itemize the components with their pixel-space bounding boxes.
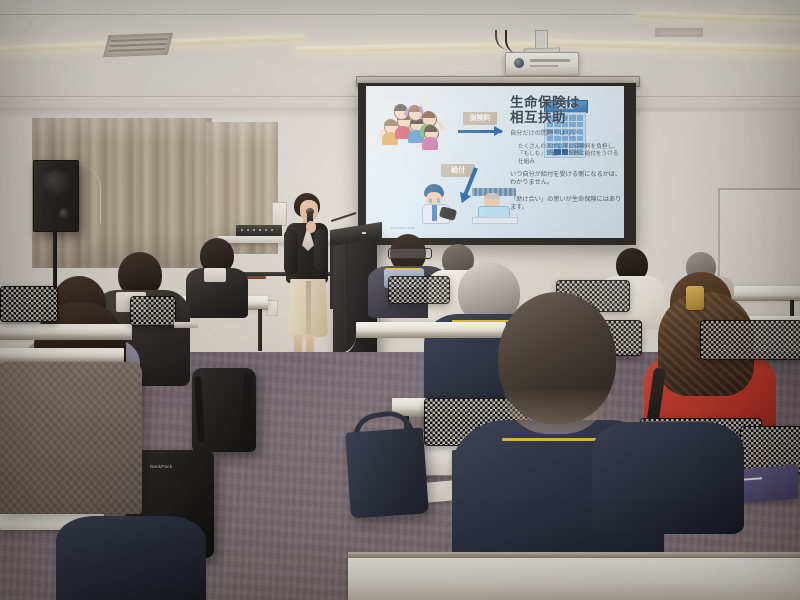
slide-paragraph-1: いつ自分が給付を受ける側になるかは、わかりません。 <box>510 171 622 188</box>
navy-tote-bag[interactable] <box>345 427 429 518</box>
presenter-arm-right <box>314 229 328 271</box>
draped-coat <box>0 362 142 514</box>
slide-tag-premium: 保険料 <box>463 112 497 125</box>
chair[interactable] <box>0 286 58 322</box>
projector-marking <box>530 65 558 67</box>
pa-speaker <box>33 160 79 232</box>
audience-member <box>592 412 742 532</box>
lectern-indicator-light <box>362 232 366 234</box>
audience-member <box>186 238 246 308</box>
table-leg <box>258 309 262 351</box>
audience-member <box>56 498 204 600</box>
hair-clip <box>686 286 704 310</box>
presenter-arm-left <box>284 229 298 275</box>
table-edge <box>348 552 800 558</box>
slide-title: 生命保険は 相互扶助 <box>510 96 622 125</box>
ceiling-vent <box>103 33 173 57</box>
projection-screen-frame: 保険料 保険 給付 <box>358 83 636 245</box>
slide-content: 保険料 保険 給付 <box>366 86 624 238</box>
table <box>348 556 800 600</box>
eyeglasses-icon <box>388 248 432 259</box>
crying-person-illustration <box>414 184 458 224</box>
projection-screen: 保険料 保険 給付 <box>366 86 624 238</box>
chair[interactable] <box>700 320 800 360</box>
projector-lens-icon <box>514 58 524 68</box>
slide-title-line2: 相互扶助 <box>510 110 566 125</box>
chair[interactable] <box>130 296 176 326</box>
crowd-illustration <box>380 104 448 148</box>
slide-highlight-block: たくさんの人が公平に保険料を負担し、「もしも」が起こった際に給付をうける仕組み <box>518 144 622 166</box>
presenter <box>276 193 340 368</box>
table <box>0 324 132 334</box>
table-edge <box>0 334 132 340</box>
slide-paragraph-2: 「助け合い」の思いが生命保険にはあります。 <box>510 196 622 213</box>
projector-marking <box>530 59 570 62</box>
seminar-room-photo: 保険料 保険 給付 <box>0 0 800 600</box>
slide-credit: illustration credit <box>390 226 415 230</box>
desk-object[interactable] <box>174 322 198 328</box>
backpack-logo: BackPack <box>150 464 172 469</box>
presenter-hand <box>306 221 316 233</box>
slide-title-line1: 生命保険は <box>510 95 580 110</box>
speaker-tweeter-icon <box>59 209 69 219</box>
arrow-right-icon <box>458 130 502 133</box>
ceiling-projector <box>505 52 579 76</box>
chair[interactable] <box>388 276 450 304</box>
speaker-woofer-icon <box>41 170 71 200</box>
table <box>0 348 124 358</box>
presenter-skirt-fold <box>306 281 311 335</box>
ceiling-vent <box>655 28 703 37</box>
slide-subtitle: 自分だけの問題ではない… <box>510 130 622 138</box>
